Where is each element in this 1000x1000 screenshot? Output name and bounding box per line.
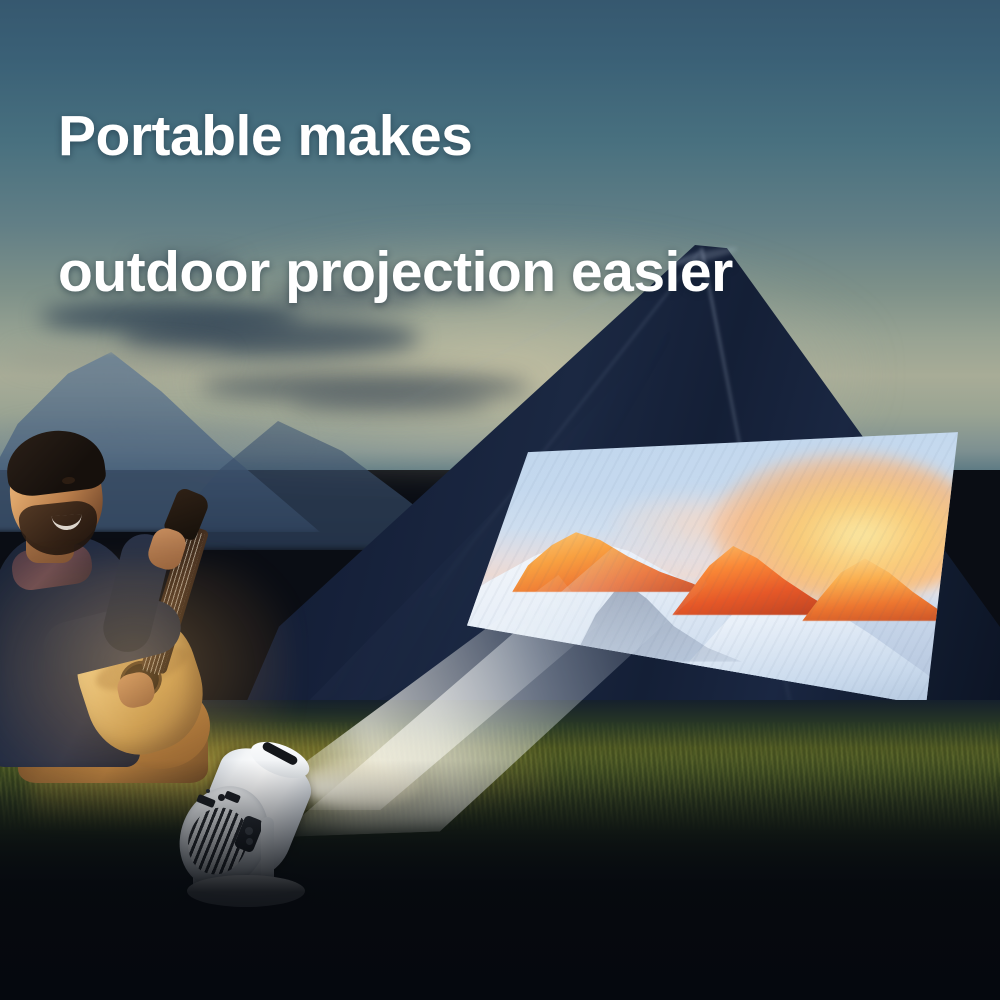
player-hair — [3, 425, 108, 498]
bottom-vignette — [0, 760, 1000, 1000]
promo-banner: Portable makes outdoor projection easier — [0, 0, 1000, 1000]
page-title: Portable makes outdoor projection easier — [58, 34, 918, 374]
headline-line-2: outdoor projection easier — [58, 238, 918, 306]
headline-line-1: Portable makes — [58, 102, 918, 170]
guitar-player — [0, 415, 240, 775]
